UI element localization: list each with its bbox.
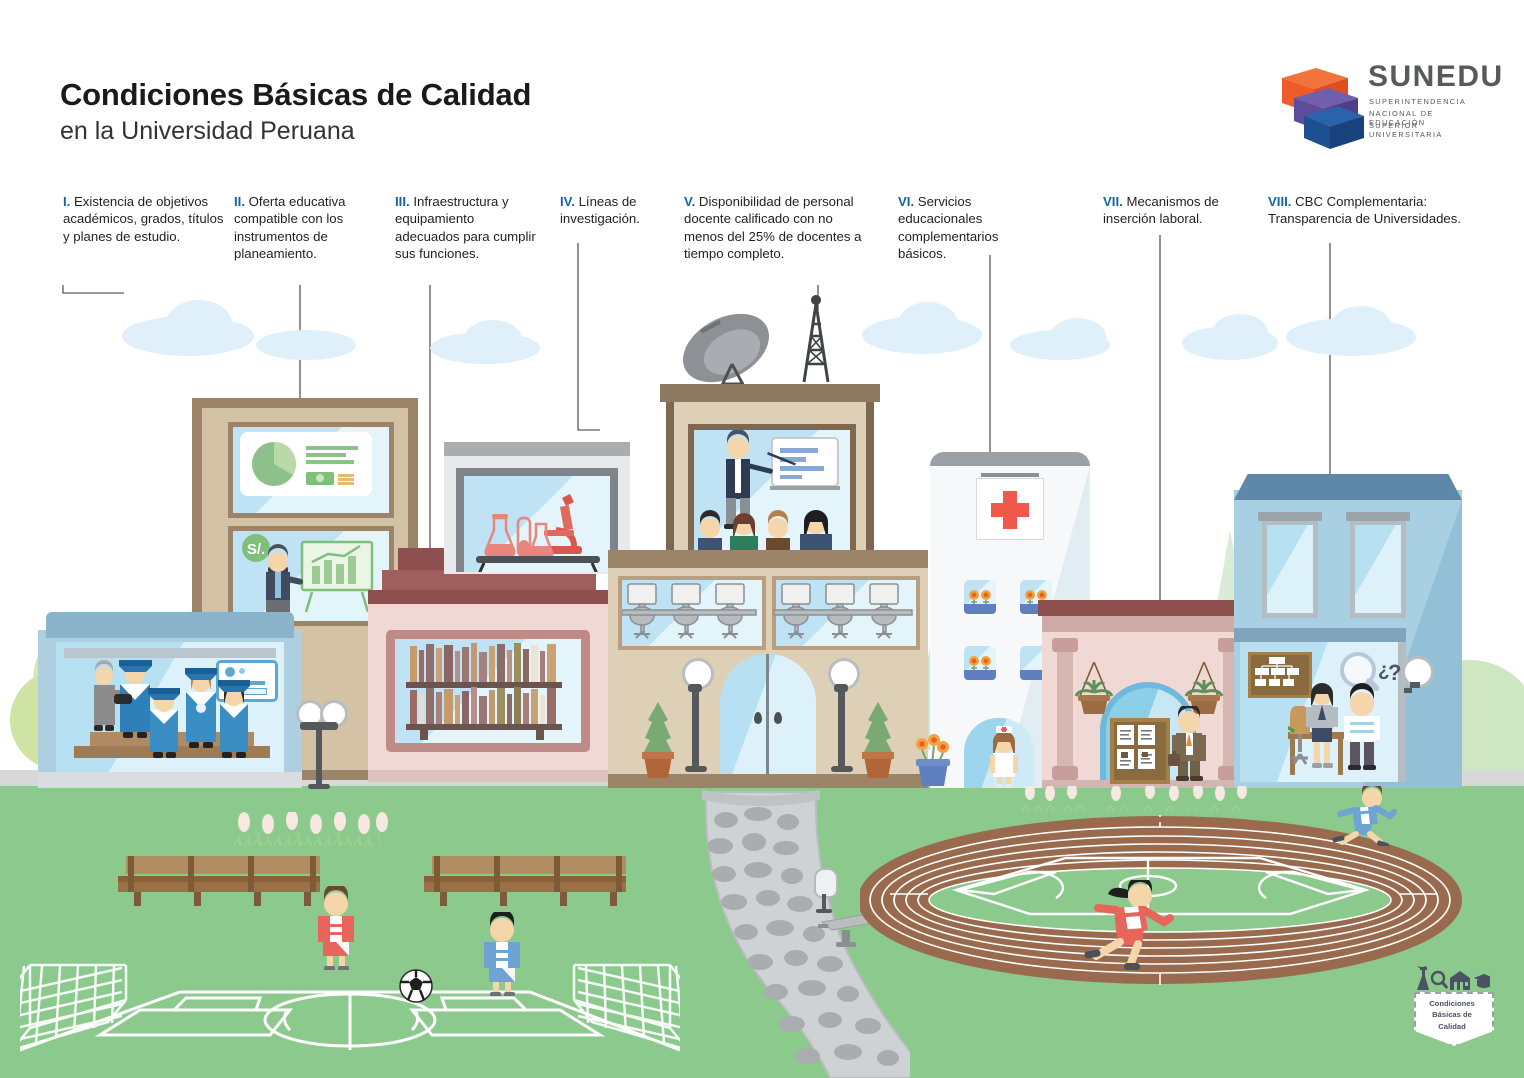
graduate-figure: [114, 660, 152, 738]
bulletin-board-icon[interactable]: [1110, 718, 1170, 784]
flower-bed: [1020, 786, 1260, 812]
graduation-cap-icon: [1474, 974, 1490, 988]
bar-chart-easel-icon: [302, 542, 372, 612]
student-figure: [1344, 683, 1380, 770]
flower-pot: [912, 734, 952, 788]
runner-blue: [1328, 786, 1398, 846]
hanging-plant-icon: [1074, 662, 1114, 724]
currency-thought-bubble: S/.: [242, 534, 270, 562]
soccer-ball-icon: [398, 968, 434, 1004]
graduation-building[interactable]: [38, 612, 302, 788]
office-scene: [1288, 678, 1408, 782]
computer-lab-building[interactable]: [608, 550, 928, 788]
nurse-figure: [982, 722, 1026, 788]
laboratory-equipment-icon: [470, 484, 608, 572]
lamp-post: [680, 658, 710, 774]
tall-window: [1350, 520, 1406, 618]
presenter-scene: S/.: [232, 530, 380, 614]
campus-building-icon: [1450, 971, 1470, 990]
goal-icon: [20, 965, 126, 1050]
potted-shrub: [858, 700, 898, 780]
lab-building[interactable]: [444, 442, 630, 574]
banknotes-icon: [306, 472, 354, 485]
graduate-figure: [185, 668, 217, 748]
runner-red: [1082, 880, 1178, 974]
svg-text:S/.: S/.: [247, 541, 265, 558]
whiteboard-icon: [770, 438, 840, 490]
badge-line-1: Condiciones: [1429, 999, 1475, 1008]
wall-lamp: [1400, 656, 1430, 706]
lamp-post: [826, 658, 856, 774]
classroom-scene: [696, 430, 848, 550]
field-bench: [118, 856, 328, 908]
students-row: [698, 510, 832, 550]
test-tube-icon: [518, 518, 530, 556]
flower-window: [964, 646, 996, 682]
pie-chart-icon: [240, 432, 372, 496]
double-lamp-post: [296, 700, 342, 788]
flask-icon: [1417, 966, 1429, 990]
transparency-building[interactable]: ¿?: [1234, 474, 1462, 788]
flower-window: [964, 580, 996, 616]
staff-woman-figure: [1306, 683, 1338, 768]
briefcase-icon: [1168, 754, 1180, 766]
badge-text: Condiciones Básicas de Calidad: [1414, 998, 1490, 1032]
satellite-dish-icon: [674, 300, 781, 396]
graduate-figure: [148, 688, 180, 758]
goal-icon: [574, 965, 680, 1050]
erlenmeyer-icon: [530, 524, 553, 556]
soccer-player-red: [310, 886, 362, 970]
field-bench: [424, 856, 634, 908]
badge-line-3: Calidad: [1438, 1022, 1465, 1031]
businessman-figure: [1168, 706, 1210, 782]
magnifier-icon: [1432, 972, 1448, 989]
red-cross-sign: [976, 478, 1044, 540]
soccer-player-blue: [476, 912, 528, 996]
microscope-icon: [542, 494, 582, 554]
tall-window: [1262, 520, 1318, 618]
classroom-building[interactable]: [660, 290, 880, 550]
badge-line-2: Básicas de: [1432, 1010, 1472, 1019]
teacher-figure: [266, 544, 304, 612]
placement-building[interactable]: [1038, 600, 1258, 788]
bookshelf-icon: [398, 642, 578, 742]
cbc-badge: Condiciones Básicas de Calidad: [1406, 966, 1498, 1050]
potted-shrub: [638, 700, 678, 780]
graduate-figure: [218, 680, 250, 758]
flask-icon: [486, 514, 515, 556]
library-building[interactable]: [368, 548, 610, 788]
computer-workstations: [622, 580, 920, 648]
red-cross-icon: [977, 479, 1043, 539]
antenna-tower-icon: [804, 295, 828, 382]
graduates-group: [88, 660, 288, 772]
flower-bed: [232, 812, 392, 846]
